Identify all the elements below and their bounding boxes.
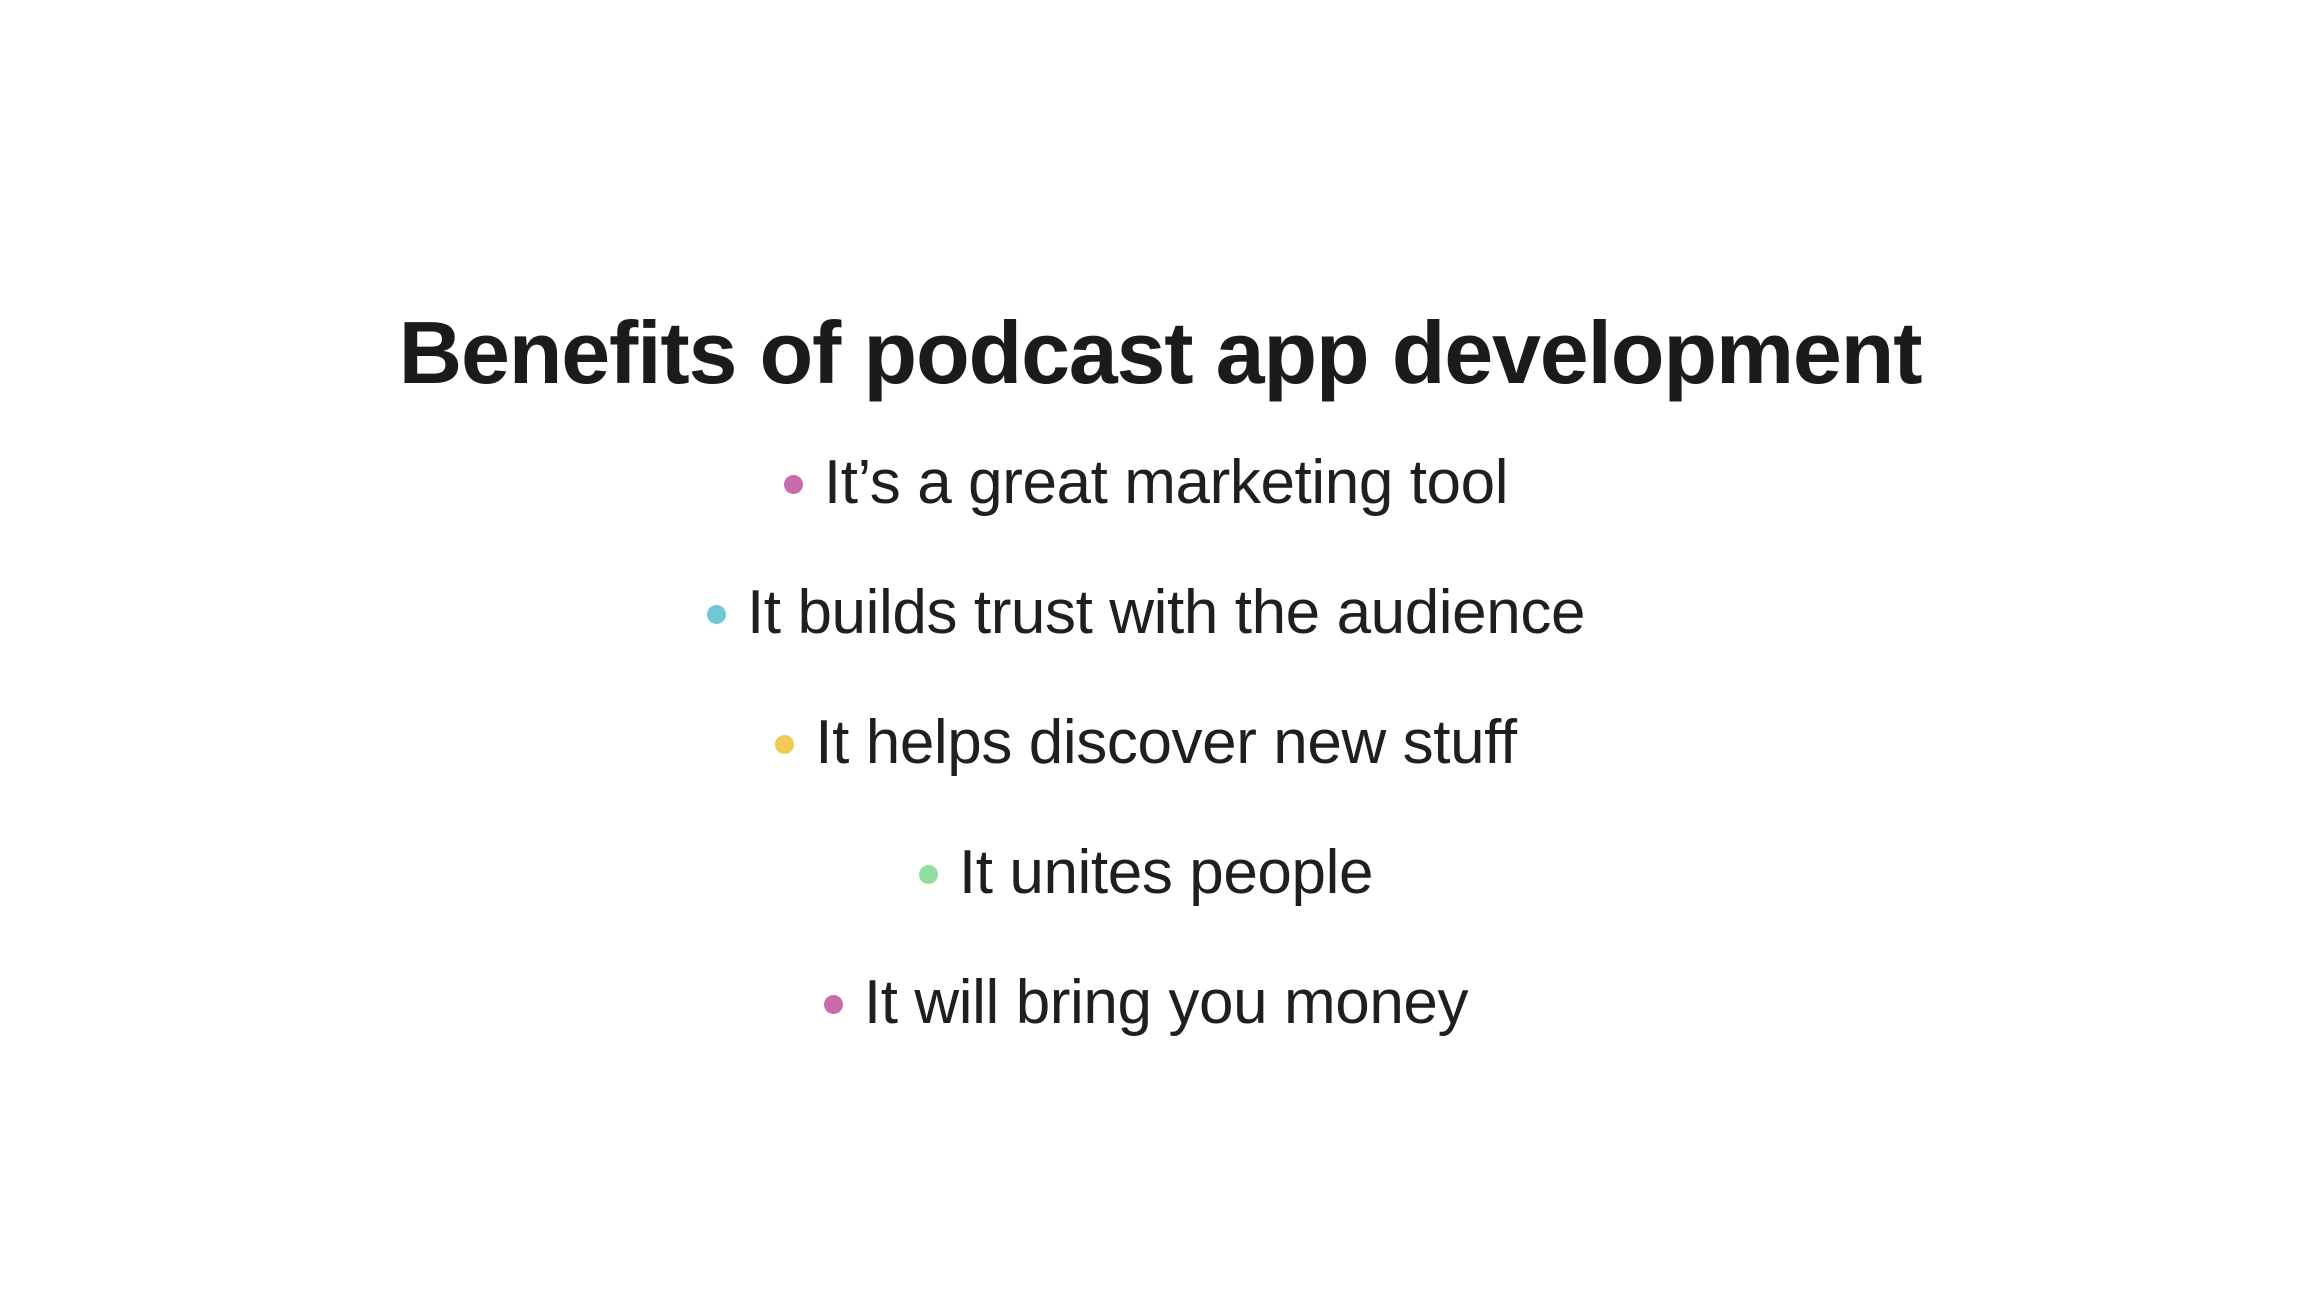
list-item: It unites people (0, 830, 2306, 916)
bullet-dot-pink (784, 475, 803, 494)
list-item-label: It unites people (959, 842, 1373, 904)
bullet-dot-teal (707, 605, 726, 624)
list-item: It helps discover new stuff (0, 700, 2306, 786)
list-item-label: It’s a great marketing tool (824, 452, 1508, 514)
list-item: It builds trust with the audience (0, 570, 2306, 656)
bullet-dot-pink (824, 995, 843, 1014)
bullet-dot-green (919, 865, 938, 884)
presentation-slide: Benefits of podcast app development It’s… (0, 0, 2320, 1300)
benefits-list: It’s a great marketing tool It builds tr… (0, 440, 2306, 1046)
list-item-label: It will bring you money (864, 972, 1468, 1034)
bullet-dot-yellow (775, 735, 794, 754)
page-title: Benefits of podcast app development (0, 307, 2320, 399)
list-item-label: It builds trust with the audience (747, 582, 1585, 644)
list-item: It will bring you money (0, 960, 2306, 1046)
list-item: It’s a great marketing tool (0, 440, 2306, 526)
list-item-label: It helps discover new stuff (815, 712, 1516, 774)
